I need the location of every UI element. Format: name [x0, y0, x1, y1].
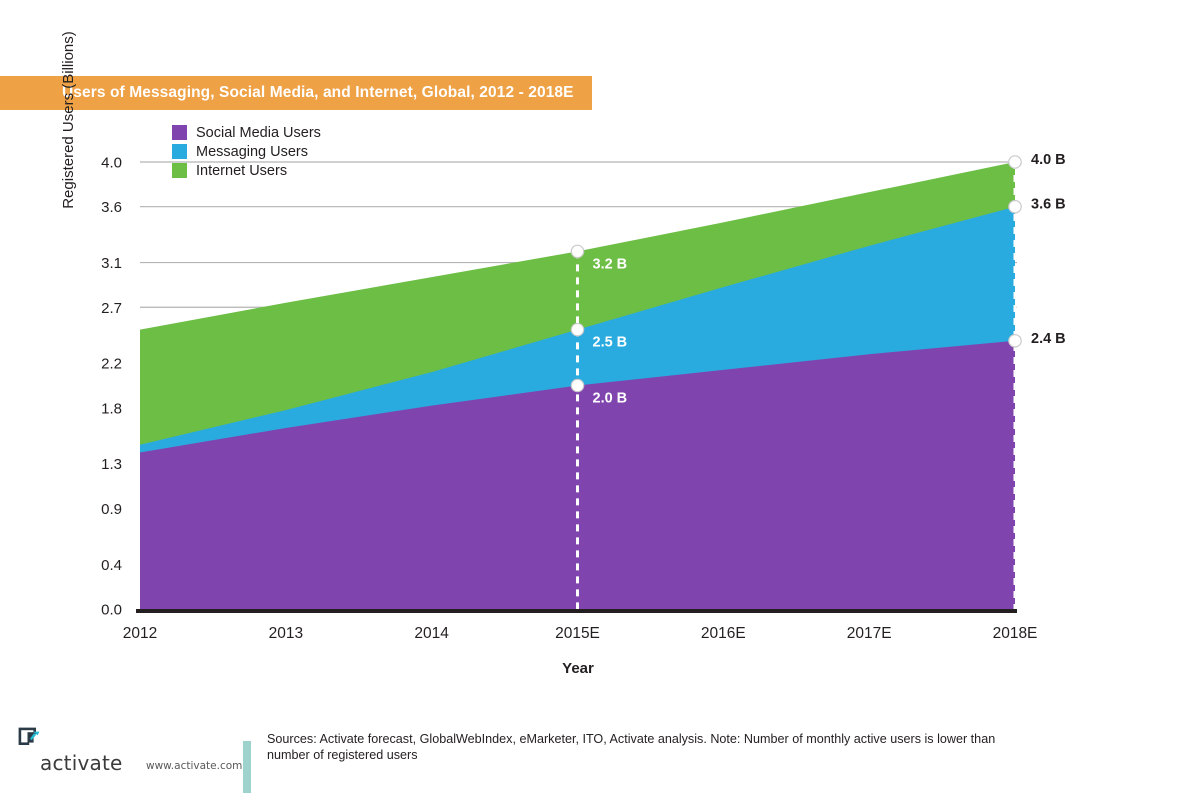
y-tick-label: 3.1	[101, 255, 122, 272]
logo-url[interactable]: www.activate.com	[146, 760, 242, 772]
legend-swatch-social-media	[172, 125, 187, 140]
x-tick-label: 2012	[123, 625, 157, 642]
brand-logo[interactable]: activate www.activate.com	[14, 726, 244, 776]
legend-label-internet: Internet Users	[196, 163, 287, 179]
x-tick-label: 2018E	[993, 625, 1038, 642]
chart-title-banner: Users of Messaging, Social Media, and In…	[0, 76, 592, 110]
x-tick-labels: 2012201320142015E2016E2017E2018E	[123, 625, 1038, 642]
legend-item-messaging[interactable]: Messaging Users	[172, 142, 362, 161]
sources-note: Sources: Activate forecast, GlobalWebInd…	[267, 731, 1027, 763]
callout-dot-2018e	[1009, 156, 1021, 168]
y-tick-labels: 4.03.63.12.72.21.81.30.90.40.0	[101, 155, 122, 619]
callout-value-2018e: 2.4 B	[1031, 331, 1066, 347]
callout-value-2015e: 2.0 B	[593, 391, 628, 407]
legend-swatch-messaging	[172, 144, 187, 159]
callout-dot-2015e	[571, 245, 583, 257]
activate-logo-icon	[17, 726, 43, 752]
callout-dot-2015e	[571, 379, 583, 391]
x-tick-label: 2015E	[555, 625, 600, 642]
x-tick-label: 2017E	[847, 625, 892, 642]
callout-dot-2018e	[1009, 201, 1021, 213]
callout-value-2018e: 4.0 B	[1031, 152, 1066, 168]
x-tick-label: 2016E	[701, 625, 746, 642]
y-tick-label: 1.3	[101, 456, 122, 473]
chart-container: 4.03.63.12.72.21.81.30.90.40.0 201220132…	[0, 110, 1194, 690]
footer: activate www.activate.com Sources: Activ…	[0, 712, 1194, 794]
x-tick-label: 2013	[269, 625, 303, 642]
chart-legend: Social Media Users Messaging Users Inter…	[172, 123, 362, 180]
callout-value-2015e: 3.2 B	[593, 256, 628, 272]
y-tick-label: 0.0	[101, 602, 122, 619]
footer-accent-bar	[243, 741, 251, 793]
y-axis-title-wrapper: Registered Users (Billions)	[60, 250, 82, 510]
page-title: Users of Messaging, Social Media, and In…	[62, 84, 574, 102]
stacked-area-chart: 4.03.63.12.72.21.81.30.90.40.0 201220132…	[0, 110, 1194, 690]
y-tick-label: 1.8	[101, 400, 122, 417]
legend-label-messaging: Messaging Users	[196, 144, 308, 160]
callout-value-2018e: 3.6 B	[1031, 197, 1066, 213]
y-axis-title: Registered Users (Billions)	[60, 0, 77, 250]
y-tick-label: 0.9	[101, 501, 122, 518]
callout-dot-2018e	[1009, 335, 1021, 347]
legend-item-social-media[interactable]: Social Media Users	[172, 123, 362, 142]
y-tick-label: 2.2	[101, 356, 122, 373]
callout-value-2015e: 2.5 B	[593, 335, 628, 351]
y-tick-label: 2.7	[101, 300, 122, 317]
x-tick-label: 2014	[414, 625, 449, 642]
y-tick-label: 4.0	[101, 155, 122, 172]
y-tick-label: 0.4	[101, 557, 122, 574]
legend-item-internet[interactable]: Internet Users	[172, 161, 362, 180]
logo-wordmark: activate	[40, 751, 123, 775]
legend-swatch-internet	[172, 163, 187, 178]
callout-dot-2015e	[571, 323, 583, 335]
legend-label-social-media: Social Media Users	[196, 125, 321, 141]
y-tick-label: 3.6	[101, 199, 122, 216]
x-axis-title: Year	[140, 660, 1016, 677]
